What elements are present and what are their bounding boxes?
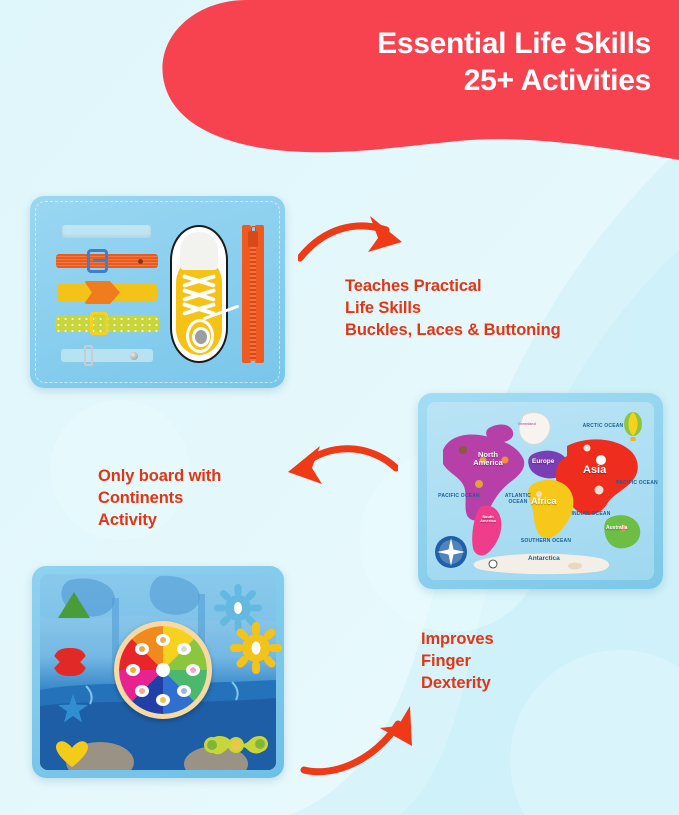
light-blue-strap[interactable]: [61, 349, 153, 362]
yellow-gear-icon[interactable]: [230, 622, 282, 674]
board-finger-dexterity[interactable]: [32, 566, 284, 778]
callout-life-skills: Teaches Practical Life Skills Buckles, L…: [345, 275, 665, 341]
sneaker-heel-opening: [192, 327, 210, 347]
compass-rose-icon: [435, 536, 467, 568]
callout-line: Finger: [421, 650, 641, 672]
metal-slide-icon[interactable]: [84, 345, 93, 366]
sneaker-lacing-item[interactable]: [170, 225, 228, 363]
header-banner: Essential Life Skills 25+ Activities: [0, 0, 679, 175]
title-line-1: Essential Life Skills: [377, 27, 651, 60]
ocean-label-southern: SOUTHERN OCEAN: [510, 539, 582, 545]
callout-line: Improves: [421, 628, 641, 650]
spinner-hub[interactable]: [156, 663, 170, 677]
callout-line: Life Skills: [345, 297, 665, 319]
ocean-label-pacific-east: PACIFIC OCEAN: [616, 481, 658, 487]
continent-label-asia: Asia: [583, 465, 606, 476]
callout-finger-dexterity: Improves Finger Dexterity: [421, 628, 641, 694]
seal-icon: [568, 563, 582, 570]
page-title: Essential Life Skills 25+ Activities: [251, 26, 651, 100]
title-line-2: 25+ Activities: [251, 63, 651, 100]
callout-line: Buckles, Laces & Buttoning: [345, 319, 665, 341]
continent-label-south-america: South America: [474, 515, 502, 523]
continent-label-europe: Europe: [532, 459, 554, 466]
callout-continents: Only board with Continents Activity: [98, 465, 328, 531]
continent-label-greenland: Greenland: [518, 423, 536, 427]
velcro-strip-item[interactable]: [62, 225, 151, 238]
metal-snap-button-icon[interactable]: [130, 352, 138, 360]
callout-line: Activity: [98, 509, 328, 531]
animal-elephant-icon: [595, 486, 604, 495]
infographic-page: Essential Life Skills 25+ Activities: [0, 0, 679, 815]
belt-prong: [93, 259, 105, 262]
callout-line: Dexterity: [421, 672, 641, 694]
zipper-pull-tab[interactable]: [251, 226, 256, 234]
zipper-item[interactable]: [242, 225, 264, 363]
continent-label-australia: Australia: [606, 526, 627, 531]
curved-arrow-right-down-icon: [298, 212, 416, 274]
continent-australia[interactable]: [604, 515, 640, 548]
continent-africa[interactable]: [528, 480, 573, 538]
yellow-belt-buckle-icon[interactable]: [90, 312, 108, 335]
zipper-teeth: [250, 241, 256, 361]
hot-air-balloon-icon: [624, 412, 642, 441]
ocean-label-arctic: ARCTIC OCEAN: [580, 424, 626, 430]
belt-hole: [138, 259, 143, 264]
sneaker-tongue: [180, 232, 218, 270]
board-world-continents[interactable]: North America South America Europe Afric…: [418, 393, 663, 589]
continent-greenland[interactable]: [519, 413, 550, 445]
triangle-shape-piece[interactable]: [58, 592, 90, 618]
animal-lion-icon: [475, 480, 483, 488]
continent-label-antarctica: Antarctica: [528, 556, 560, 563]
penguin-icon: [489, 560, 497, 568]
animal-bird-icon: [584, 445, 591, 452]
animal-spinner-wheel[interactable]: [114, 621, 212, 719]
ocean-label-indian: INDIAN OCEAN: [570, 512, 612, 518]
callout-line: Continents: [98, 487, 328, 509]
callout-line: Only board with: [98, 465, 328, 487]
ocean-label-atlantic: ATLANTIC OCEAN: [496, 494, 540, 506]
callout-line: Teaches Practical: [345, 275, 665, 297]
curved-arrow-up-right-icon: [300, 700, 418, 782]
bead-slider-track[interactable]: [200, 728, 270, 762]
board-life-skills[interactable]: [30, 196, 285, 388]
ocean-label-pacific-west: PACIFIC OCEAN: [438, 494, 480, 500]
continent-label-north-america: North America: [466, 451, 510, 466]
